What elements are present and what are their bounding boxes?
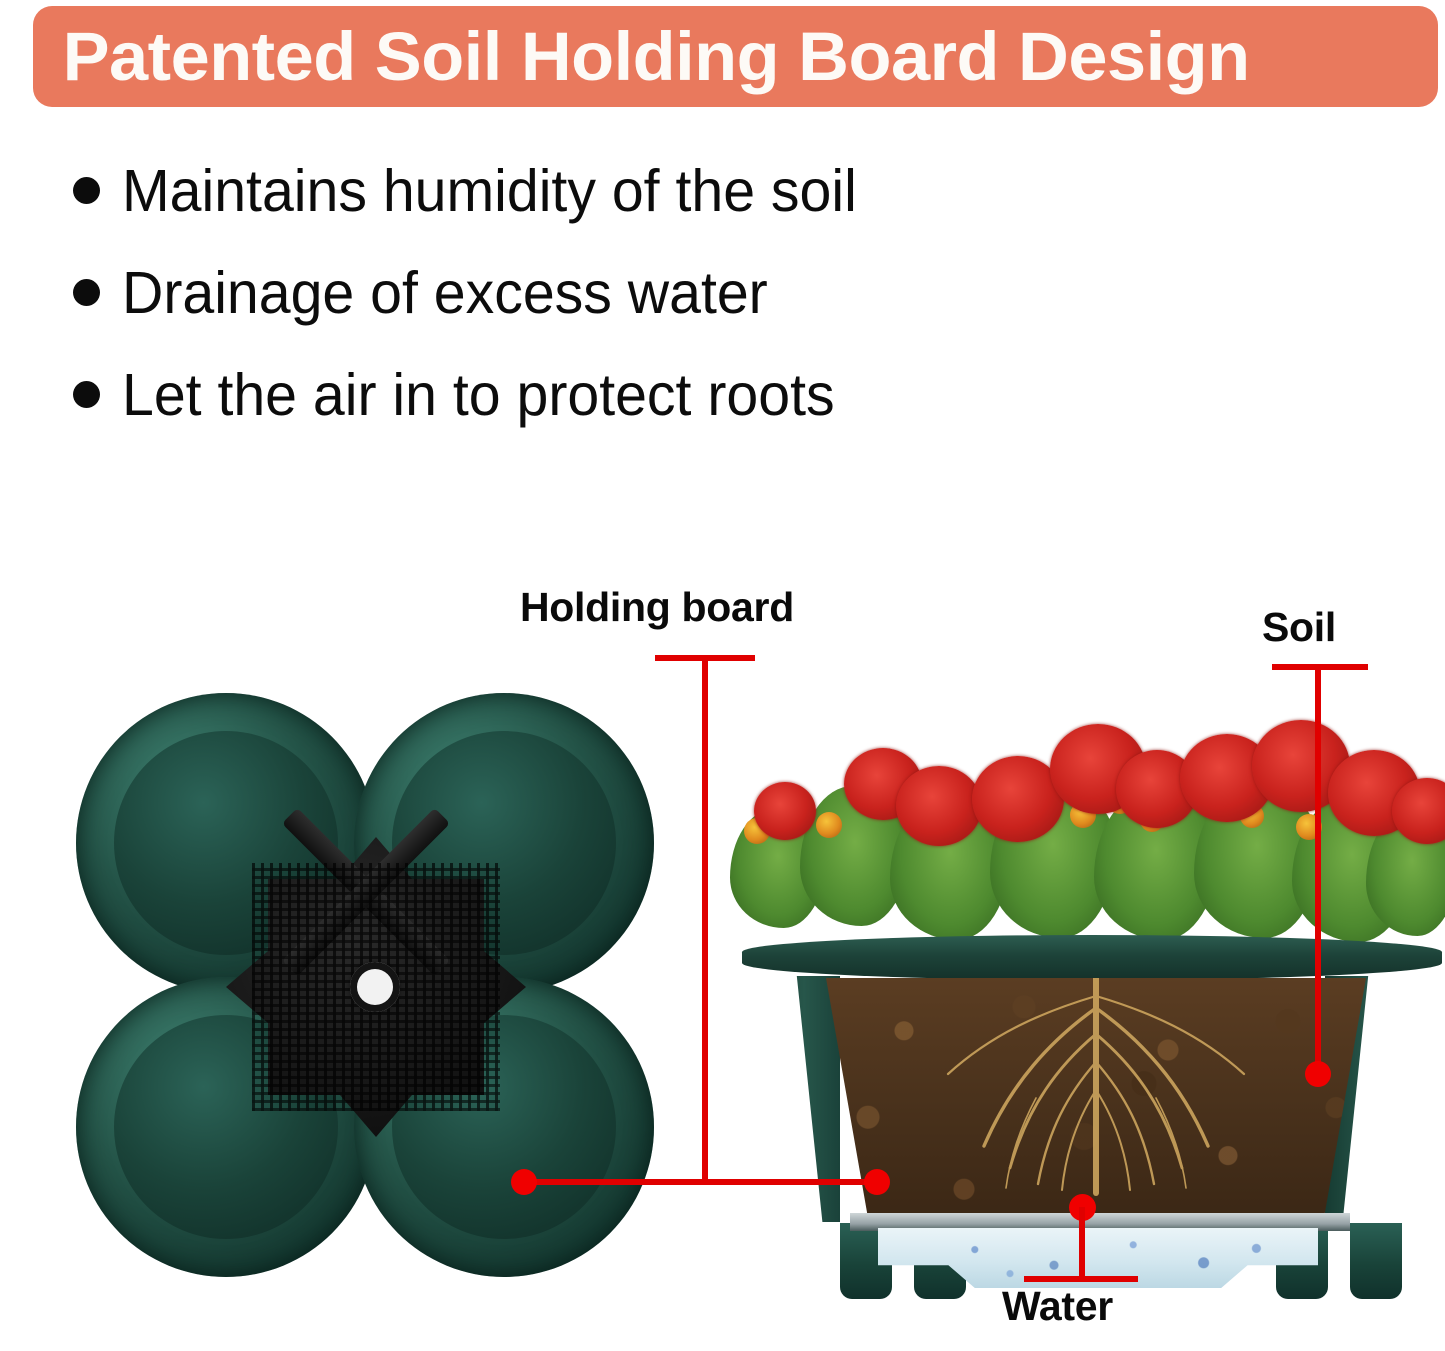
- leader-dot-holding-board-left: [511, 1169, 537, 1195]
- callout-label-soil: Soil: [1262, 604, 1336, 651]
- page-title: Patented Soil Holding Board Design: [33, 22, 1250, 91]
- list-item: Maintains humidity of the soil: [60, 152, 1140, 254]
- feature-list: Maintains humidity of the soil Drainage …: [60, 152, 1140, 458]
- feature-label: Maintains humidity of the soil: [122, 152, 857, 230]
- product-diagram: Holding board Soil Water: [0, 560, 1445, 1351]
- leader-line-water-stem: [1079, 1207, 1085, 1281]
- feature-label: Drainage of excess water: [122, 254, 768, 332]
- drainage-hole: [350, 962, 400, 1012]
- leader-dot-holding-board-right: [864, 1169, 890, 1195]
- bullet-icon: [73, 177, 100, 204]
- callout-label-water: Water: [1002, 1283, 1113, 1330]
- leader-line-soil-stem: [1315, 664, 1321, 1068]
- callout-label-holding-board: Holding board: [520, 584, 794, 631]
- bullet-icon: [73, 279, 100, 306]
- leader-line-water-tbar: [1024, 1276, 1138, 1282]
- leader-dot-soil: [1305, 1061, 1331, 1087]
- list-item: Drainage of excess water: [60, 254, 1140, 356]
- bullet-icon: [73, 381, 100, 408]
- list-item: Let the air in to protect roots: [60, 356, 1140, 458]
- header-banner: Patented Soil Holding Board Design: [33, 6, 1438, 107]
- leader-line-holding-board-hbar: [523, 1179, 880, 1185]
- holding-board-product-photo: [62, 685, 662, 1295]
- pot-foot: [1350, 1223, 1402, 1299]
- feature-label: Let the air in to protect roots: [122, 356, 835, 434]
- pot-rim: [742, 935, 1442, 980]
- leader-line-holding-board-stem: [702, 655, 708, 1182]
- pot-wall: [760, 976, 840, 1222]
- flower-cluster: [720, 690, 1445, 950]
